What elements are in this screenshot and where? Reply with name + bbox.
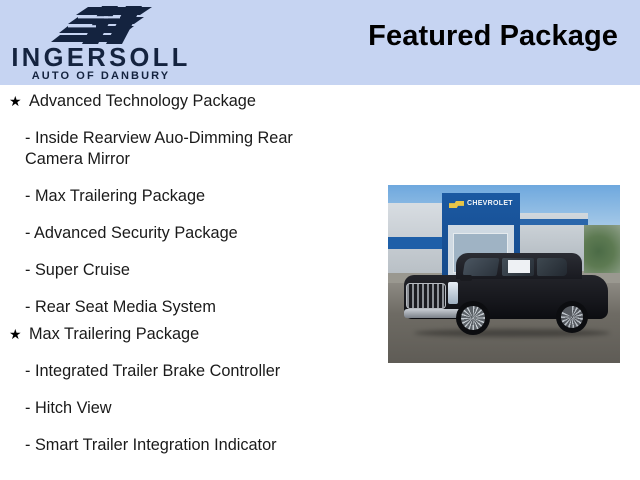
brand-wordmark: INGERSOLL xyxy=(8,46,194,72)
suv-side-mirror xyxy=(460,275,472,281)
list-item-label: - Hitch View xyxy=(25,398,343,419)
feature-list: ★ Advanced Technology Package - Inside R… xyxy=(0,85,380,456)
star-bullet-icon: ★ xyxy=(9,324,22,345)
photo-dealership-left-stripe xyxy=(388,237,448,249)
list-item-label: - Integrated Trailer Brake Controller xyxy=(25,361,343,382)
list-item-label: Advanced Technology Package xyxy=(29,91,347,112)
list-item: ★ Advanced Technology Package xyxy=(0,91,380,112)
star-bullet-icon: ★ xyxy=(9,91,22,112)
dealership-sign-label: CHEVROLET xyxy=(467,200,513,207)
list-item-label: - Rear Seat Media System xyxy=(25,297,343,318)
list-item-label: - Max Trailering Package xyxy=(25,186,343,207)
list-item: - Max Trailering Package xyxy=(0,186,380,207)
suv-window-sticker xyxy=(508,260,530,273)
suv-windshield xyxy=(463,258,500,276)
list-item-label: - Smart Trailer Integration Indicator xyxy=(25,435,343,456)
page-title: Featured Package xyxy=(368,20,618,53)
suv-headlight xyxy=(448,282,458,304)
photo-dealership-right-stripe xyxy=(516,219,588,225)
list-item-label: - Super Cruise xyxy=(25,260,343,281)
list-item-label: - Advanced Security Package xyxy=(25,223,343,244)
suv-front-wheel xyxy=(456,301,490,335)
vehicle-photo: CHEVROLET xyxy=(388,185,620,363)
list-item: - Integrated Trailer Brake Controller xyxy=(0,361,380,382)
list-item-label: - Inside Rearview Auo-Dimming Rear Camer… xyxy=(25,128,343,170)
suv-grille xyxy=(406,283,446,309)
list-item: - Rear Seat Media System xyxy=(0,297,380,318)
list-item: - Advanced Security Package xyxy=(0,223,380,244)
dealer-logo: INGERSOLL AUTO OF DANBURY xyxy=(0,2,200,84)
list-item: ★ Max Trailering Package xyxy=(0,324,380,345)
ingersoll-wing-emblem-icon xyxy=(48,5,160,45)
photo-suv xyxy=(404,253,608,335)
slide-header: INGERSOLL AUTO OF DANBURY Featured Packa… xyxy=(0,0,640,85)
list-item-label: Max Trailering Package xyxy=(29,324,347,345)
list-item: - Smart Trailer Integration Indicator xyxy=(0,435,380,456)
list-item: - Hitch View xyxy=(0,398,380,419)
list-item: - Inside Rearview Auo-Dimming Rear Camer… xyxy=(0,128,380,170)
suv-rear-wheel xyxy=(556,301,588,333)
list-item: - Super Cruise xyxy=(0,260,380,281)
brand-tagline: AUTO OF DANBURY xyxy=(8,71,194,82)
suv-rear-window xyxy=(537,258,567,276)
